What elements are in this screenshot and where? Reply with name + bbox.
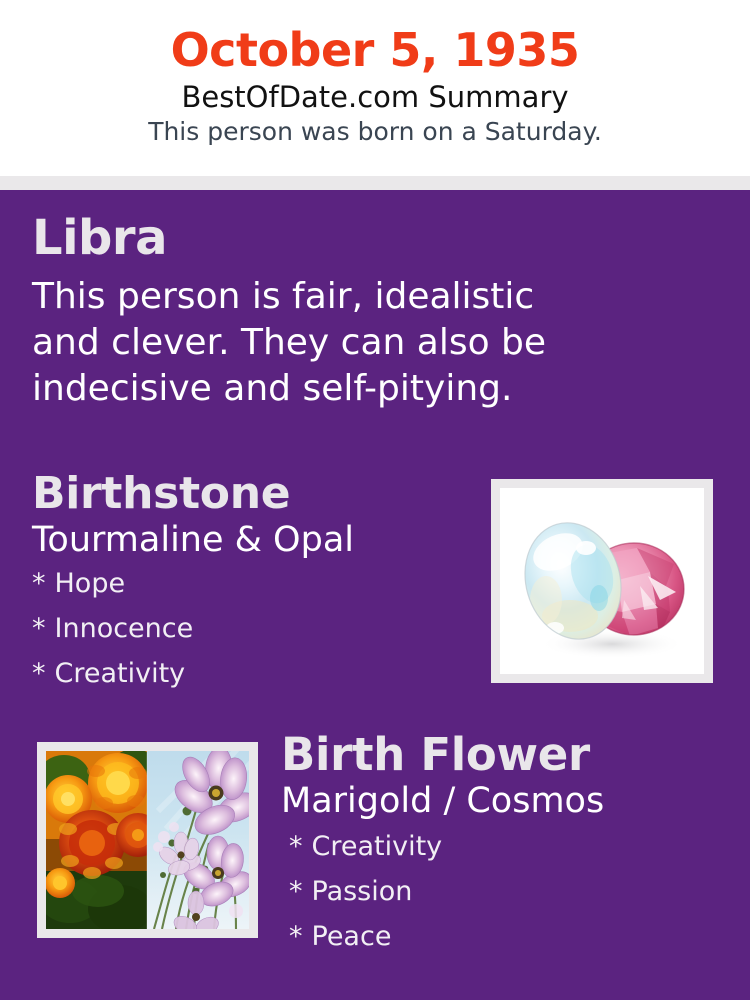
asterisk-icon: * bbox=[289, 921, 303, 952]
day-of-week-note: This person was born on a Saturday. bbox=[0, 118, 750, 146]
asterisk-icon: * bbox=[32, 613, 46, 644]
page-title-date: October 5, 1935 bbox=[0, 26, 750, 74]
trait-label: Innocence bbox=[55, 613, 194, 644]
list-item: *Creativity bbox=[289, 833, 741, 860]
birth-flower-image bbox=[46, 751, 249, 929]
zodiac-section: Libra This person is fair, idealistic an… bbox=[32, 214, 632, 412]
zodiac-sign-title: Libra bbox=[32, 214, 632, 262]
birth-flower-section: Birth Flower Marigold / Cosmos *Creativi… bbox=[281, 732, 741, 968]
birthstone-trait-list: *Hope *Innocence *Creativity bbox=[32, 570, 472, 687]
birthstone-image-frame bbox=[491, 479, 713, 683]
asterisk-icon: * bbox=[289, 876, 303, 907]
list-item: *Innocence bbox=[32, 615, 472, 642]
zodiac-description: This person is fair, idealistic and clev… bbox=[32, 274, 612, 412]
trait-label: Passion bbox=[312, 876, 413, 907]
infographic-card: October 5, 1935 BestOfDate.com Summary T… bbox=[0, 0, 750, 1000]
asterisk-icon: * bbox=[32, 658, 46, 689]
birth-flower-name: Marigold / Cosmos bbox=[281, 783, 741, 821]
list-item: *Creativity bbox=[32, 660, 472, 687]
site-name: BestOfDate.com Summary bbox=[0, 81, 750, 113]
trait-label: Peace bbox=[312, 921, 392, 952]
list-item: *Peace bbox=[289, 923, 741, 950]
list-item: *Hope bbox=[32, 570, 472, 597]
header-divider bbox=[0, 176, 750, 190]
asterisk-icon: * bbox=[32, 568, 46, 599]
list-item: *Passion bbox=[289, 878, 741, 905]
birthstone-name: Tourmaline & Opal bbox=[32, 522, 472, 560]
flowers-illustration bbox=[46, 751, 249, 929]
content-panel: Libra This person is fair, idealistic an… bbox=[0, 190, 750, 1000]
birthstone-image bbox=[500, 488, 704, 674]
card-header: October 5, 1935 BestOfDate.com Summary T… bbox=[0, 0, 750, 176]
birthstone-section: Birthstone Tourmaline & Opal *Hope *Inno… bbox=[32, 472, 472, 705]
birthstone-title: Birthstone bbox=[32, 472, 472, 516]
trait-label: Creativity bbox=[55, 658, 186, 689]
trait-label: Hope bbox=[55, 568, 126, 599]
birth-flower-title: Birth Flower bbox=[281, 732, 741, 777]
birth-flower-trait-list: *Creativity *Passion *Peace bbox=[289, 833, 741, 950]
asterisk-icon: * bbox=[289, 831, 303, 862]
birth-flower-image-frame bbox=[37, 742, 258, 938]
trait-label: Creativity bbox=[312, 831, 443, 862]
gemstone-illustration bbox=[500, 488, 704, 674]
